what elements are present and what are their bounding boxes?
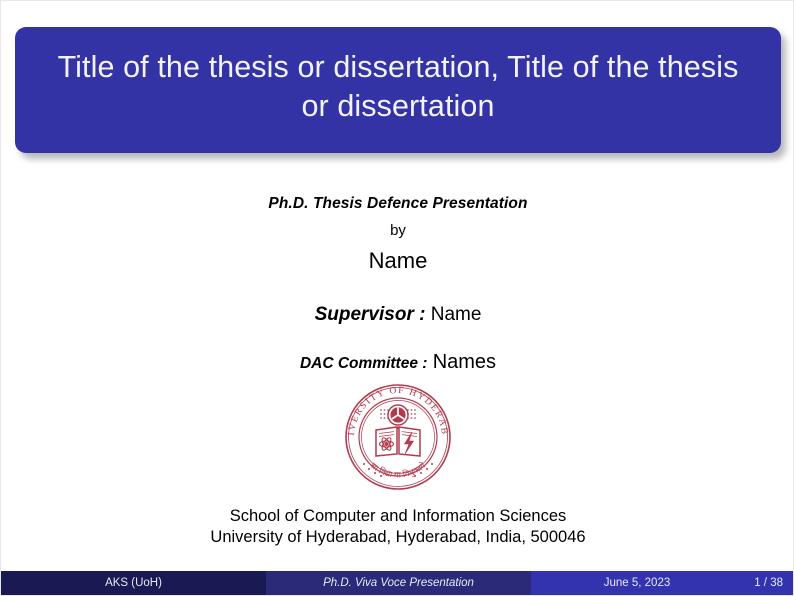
supervisor-line: Supervisor : Name: [1, 304, 794, 326]
affiliation-school: School of Computer and Information Scien…: [1, 506, 794, 527]
presentation-slide: Title of the thesis or dissertation, Tit…: [0, 0, 794, 596]
title-banner: Title of the thesis or dissertation, Tit…: [15, 27, 781, 153]
presentation-subtitle: Ph.D. Thesis Defence Presentation: [1, 195, 794, 213]
supervisor-label: Supervisor :: [315, 304, 426, 325]
footer-presentation-title: Ph.D. Viva Voce Presentation: [266, 571, 531, 595]
seal-sun-emblem: [388, 405, 408, 425]
author-name: Name: [1, 248, 794, 274]
footer-date: June 5, 2023: [531, 577, 743, 589]
page-title: Title of the thesis or dissertation, Tit…: [41, 48, 755, 127]
affiliation: School of Computer and Information Scien…: [1, 506, 794, 549]
slide-footer: AKS (UoH) Ph.D. Viva Voce Presentation J…: [1, 571, 794, 595]
dac-committee-line: DAC Committee : Names: [1, 351, 794, 374]
footer-page-number: 1 / 38: [754, 577, 783, 589]
by-label: by: [1, 222, 794, 239]
university-seal-icon: UNIVERSITY OF HYDERABAD सा विद्या या विम…: [343, 382, 453, 494]
dac-committee-label: DAC Committee :: [300, 355, 427, 372]
seal-motto-text: सा विद्या या विमुक्तये: [369, 460, 428, 479]
footer-right-segment: June 5, 2023 1 / 38: [531, 571, 794, 595]
title-box: Title of the thesis or dissertation, Tit…: [15, 27, 781, 153]
affiliation-university: University of Hyderabad, Hyderabad, Indi…: [1, 527, 794, 548]
logo-row: UNIVERSITY OF HYDERABAD सा विद्या या विम…: [1, 382, 794, 494]
slide-body: Ph.D. Thesis Defence Presentation by Nam…: [1, 159, 794, 571]
seal-book-emblem: [376, 427, 420, 456]
dac-committee-value: Names: [433, 351, 496, 373]
footer-author: AKS (UoH): [1, 571, 266, 595]
supervisor-value: Name: [431, 304, 482, 325]
